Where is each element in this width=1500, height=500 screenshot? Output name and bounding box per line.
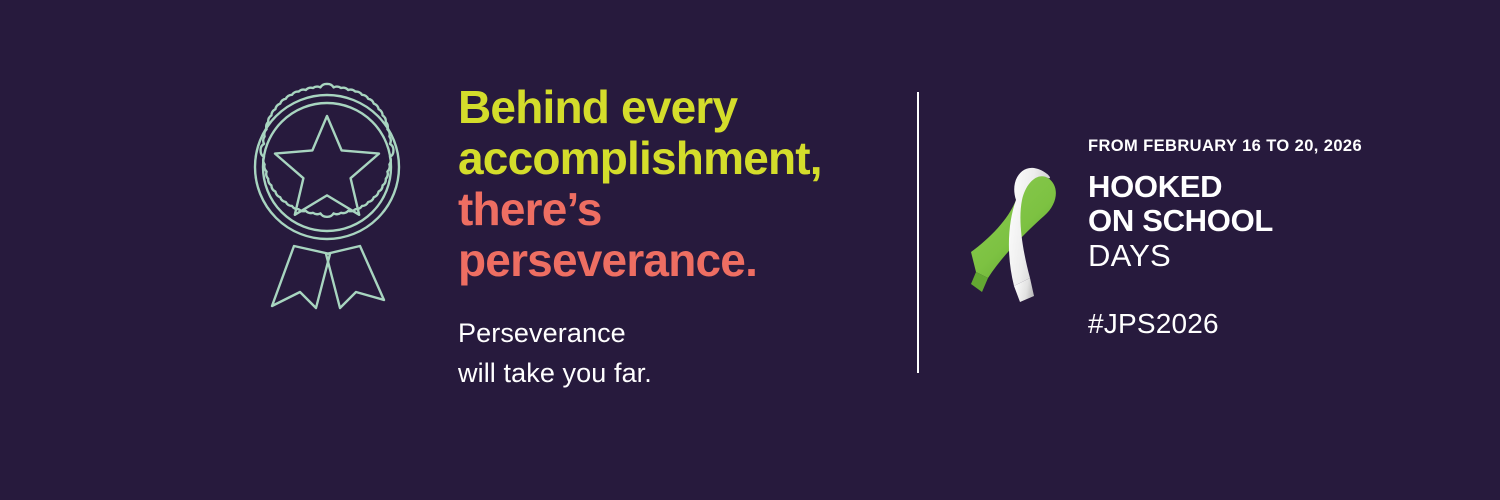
campaign-name-line-2: ON SCHOOL [1088, 204, 1388, 238]
campaign-banner: Behind every accomplishment, there’s per… [0, 0, 1500, 500]
headline-line-4: perseverance. [458, 235, 888, 286]
subtext-line-1: Perseverance [458, 313, 878, 353]
headline-line-3: there’s [458, 184, 888, 235]
headline-line-2: accomplishment, [458, 133, 888, 184]
campaign-logo-block: FROM FEBRUARY 16 TO 20, 2026 HOOKED ON S… [968, 136, 1388, 336]
vertical-divider [917, 92, 919, 373]
award-rosette-icon [244, 78, 410, 310]
headline-line-1: Behind every [458, 82, 888, 133]
campaign-name: HOOKED ON SCHOOL DAYS [1088, 170, 1388, 274]
subtext-line-2: will take you far. [458, 353, 878, 393]
subtext: Perseverance will take you far. [458, 313, 878, 393]
campaign-date: FROM FEBRUARY 16 TO 20, 2026 [1088, 136, 1388, 156]
campaign-name-line-3: DAYS [1088, 238, 1388, 274]
campaign-name-line-1: HOOKED [1088, 170, 1388, 204]
awareness-ribbon-icon [968, 160, 1068, 308]
logo-text: FROM FEBRUARY 16 TO 20, 2026 HOOKED ON S… [1088, 136, 1388, 274]
campaign-hashtag: #JPS2026 [1088, 308, 1219, 340]
headline: Behind every accomplishment, there’s per… [458, 82, 888, 286]
